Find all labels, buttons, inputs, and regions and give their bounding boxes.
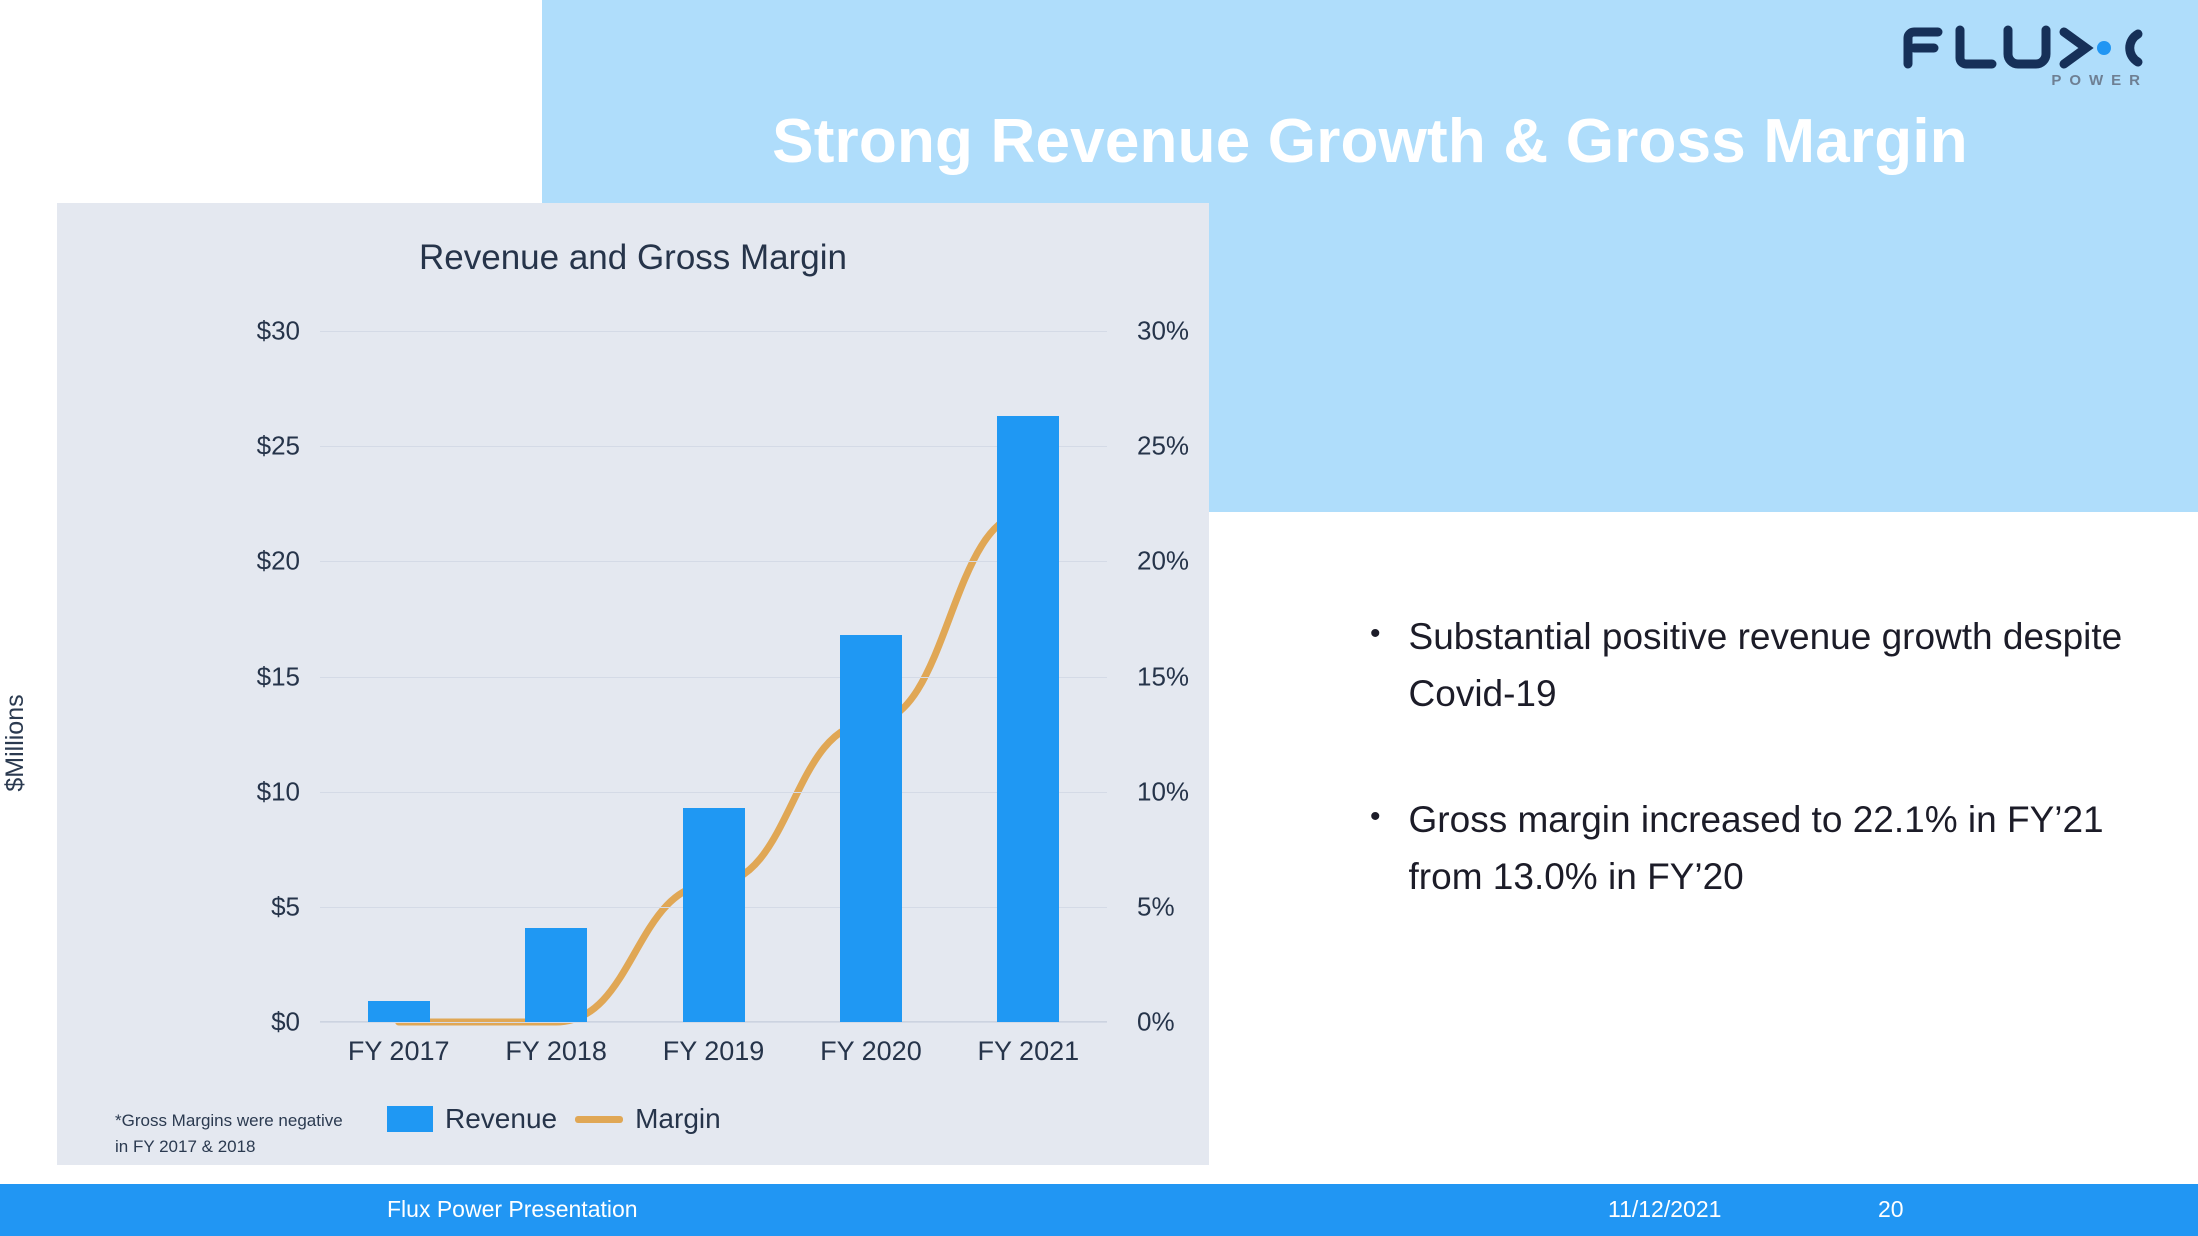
y-axis-tick-right: 10%	[1137, 776, 1189, 807]
footnote-line-2: in FY 2017 & 2018	[115, 1134, 343, 1160]
bullet-marker-icon: •	[1370, 608, 1381, 723]
y-axis-tick-left: $20	[257, 546, 300, 577]
legend-item-revenue: Revenue	[387, 1103, 557, 1135]
y-axis-tick-left: $30	[257, 316, 300, 347]
legend-label-revenue: Revenue	[445, 1103, 557, 1135]
gridline	[320, 1022, 1107, 1023]
y-axis-label: $Millions	[1, 643, 30, 843]
y-axis-tick-left: $10	[257, 776, 300, 807]
bar-fy-2019	[683, 808, 745, 1022]
y-axis-tick-right: 0%	[1137, 1007, 1175, 1038]
bullet-item-1: •Substantial positive revenue growth des…	[1370, 608, 2130, 723]
x-axis-labels: FY 2017FY 2018FY 2019FY 2020FY 2021	[320, 1036, 1107, 1080]
x-axis-label: FY 2021	[950, 1036, 1107, 1080]
y-axis-tick-right: 20%	[1137, 546, 1189, 577]
chart-footnote: *Gross Margins were negative in FY 2017 …	[115, 1108, 343, 1159]
x-axis-label: FY 2019	[635, 1036, 792, 1080]
y-axis-tick-left: $15	[257, 661, 300, 692]
chart-legend: Revenue Margin	[387, 1103, 721, 1135]
legend-label-margin: Margin	[635, 1103, 721, 1135]
chart-title: Revenue and Gross Margin	[57, 238, 1209, 278]
x-axis-label: FY 2018	[477, 1036, 634, 1080]
footer-page-number: 20	[1878, 1196, 1904, 1223]
bullet-text: Gross margin increased to 22.1% in FY’21…	[1409, 791, 2130, 906]
slide: POWER Strong Revenue Growth & Gross Marg…	[0, 0, 2198, 1236]
x-axis-label: FY 2020	[792, 1036, 949, 1080]
y-axis-tick-right: 5%	[1137, 891, 1175, 922]
gridline	[320, 331, 1107, 332]
bar-fy-2021	[997, 416, 1059, 1022]
plot-area: $00%$55%$1010%$1515%$2020%$2525%$3030%	[320, 331, 1107, 1022]
gridline	[320, 792, 1107, 793]
bar-fy-2020	[840, 635, 902, 1022]
footer-bar: Flux Power Presentation 11/12/2021 20	[0, 1184, 2198, 1236]
flux-power-logo: POWER	[1900, 22, 2150, 94]
footnote-line-1: *Gross Margins were negative	[115, 1108, 343, 1134]
y-axis-tick-right: 15%	[1137, 661, 1189, 692]
bullet-marker-icon: •	[1370, 791, 1381, 906]
x-axis-label: FY 2017	[320, 1036, 477, 1080]
gridline	[320, 561, 1107, 562]
footer-title: Flux Power Presentation	[387, 1196, 638, 1223]
y-axis-tick-left: $5	[271, 891, 300, 922]
legend-swatch-icon	[387, 1106, 433, 1132]
page-title: Strong Revenue Growth & Gross Margin	[560, 108, 2180, 176]
bar-fy-2018	[525, 928, 587, 1022]
y-axis-tick-right: 25%	[1137, 431, 1189, 462]
bullet-list: •Substantial positive revenue growth des…	[1370, 608, 2130, 973]
bullet-text: Substantial positive revenue growth desp…	[1409, 608, 2130, 723]
logo-subtitle: POWER	[2051, 72, 2148, 89]
bullet-item-2: •Gross margin increased to 22.1% in FY’2…	[1370, 791, 2130, 906]
gridline	[320, 446, 1107, 447]
y-axis-tick-left: $0	[271, 1007, 300, 1038]
gridline	[320, 677, 1107, 678]
legend-line-icon	[575, 1116, 623, 1123]
legend-item-margin: Margin	[575, 1103, 721, 1135]
chart-panel: Revenue and Gross Margin $Millions $00%$…	[57, 203, 1209, 1165]
y-axis-tick-right: 30%	[1137, 316, 1189, 347]
y-axis-tick-left: $25	[257, 431, 300, 462]
footer-date: 11/12/2021	[1608, 1196, 1721, 1223]
bar-fy-2017	[368, 1001, 430, 1022]
